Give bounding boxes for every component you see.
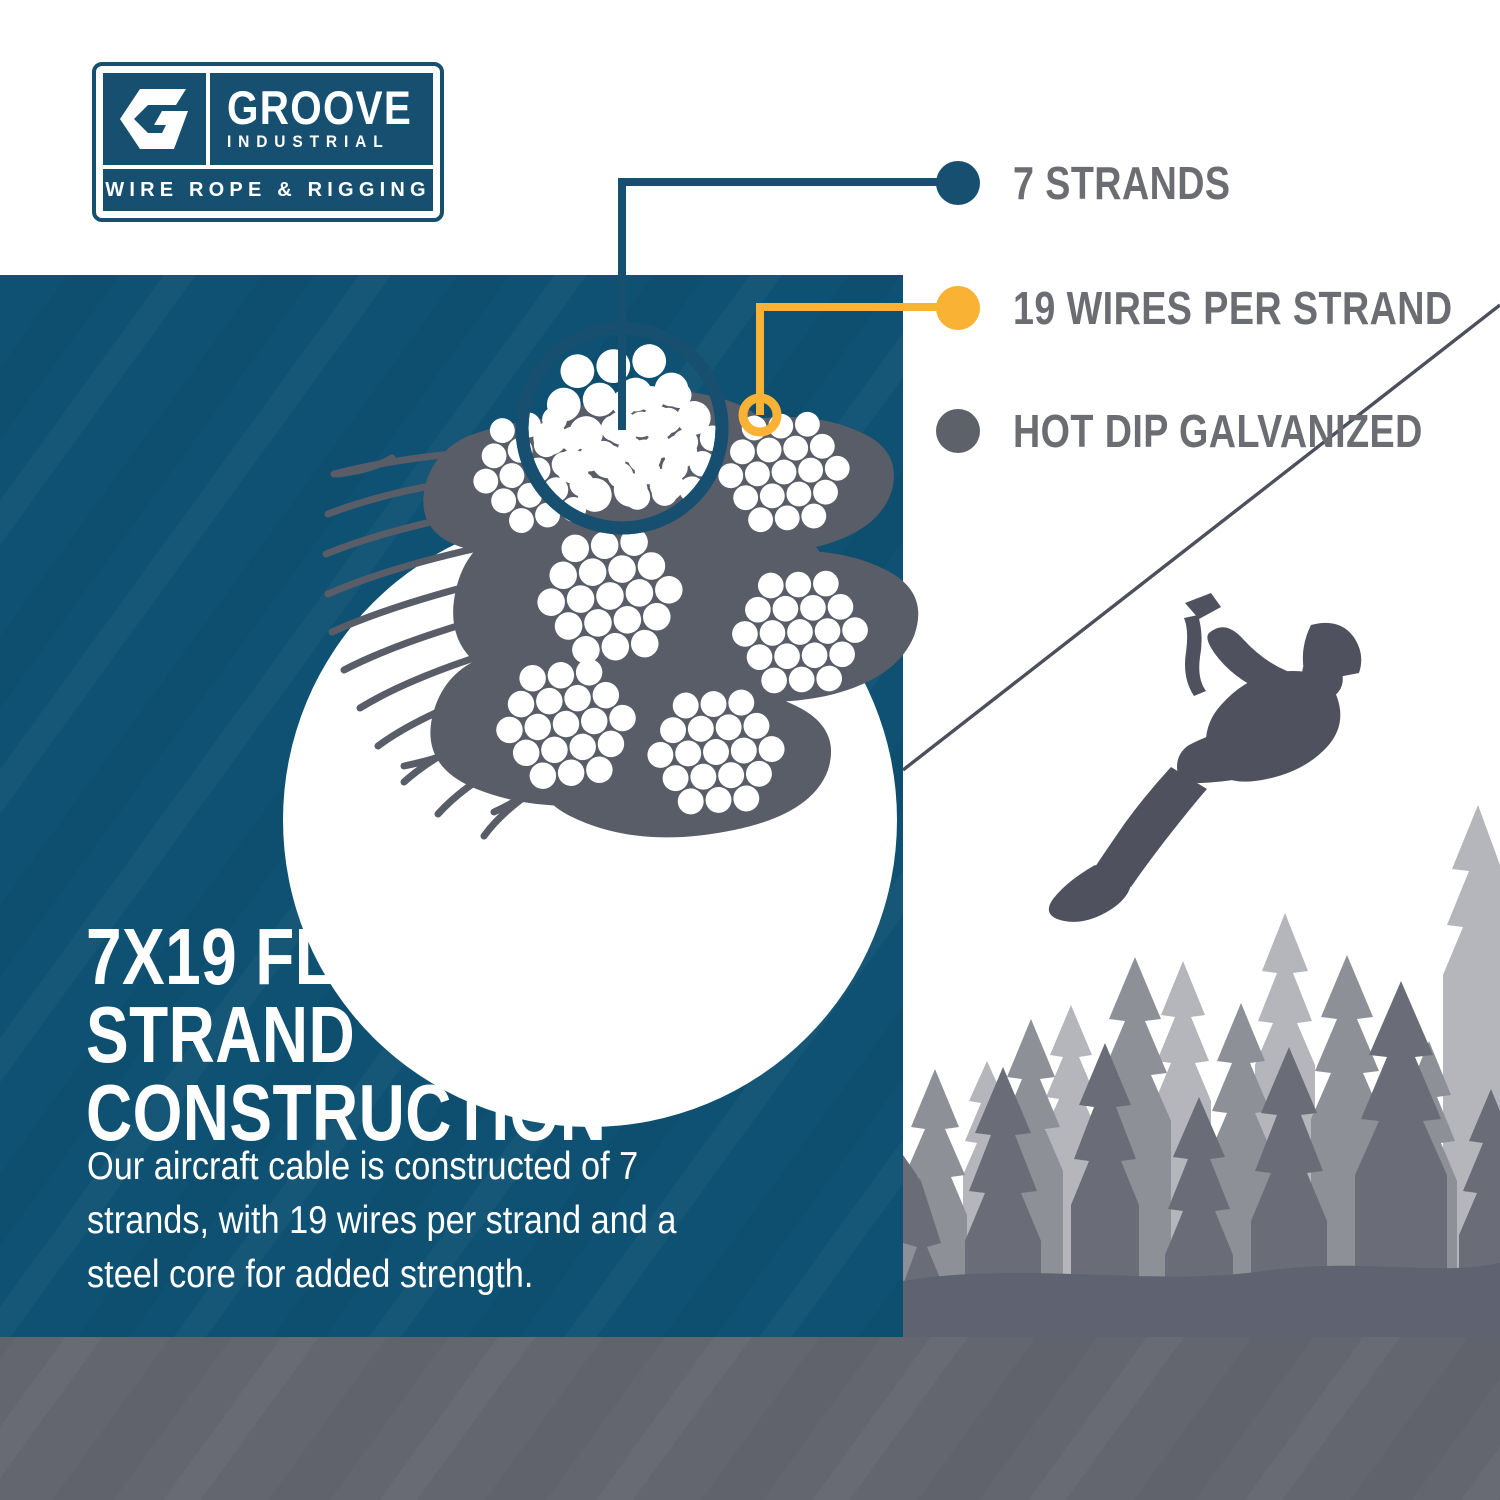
logo-subtitle: INDUSTRIAL [227, 133, 421, 152]
callout-label: 19 WIRES PER STRAND [1013, 281, 1453, 335]
headline-line-1: 7X19 FLEXIBLE [86, 912, 568, 1001]
callout-label: HOT DIP GALVANIZED [1013, 404, 1423, 458]
body-description: Our aircraft cable is constructed of 7 s… [87, 1140, 703, 1302]
callout-7-strands: 7 STRANDS [936, 156, 1278, 210]
groove-g-icon [103, 73, 206, 165]
g-hexagon-glyph [118, 85, 192, 153]
callout-label: 7 STRANDS [1013, 156, 1230, 210]
callout-hot-dip-galvanized: HOT DIP GALVANIZED [936, 404, 1500, 458]
logo-wordmark: GROOVE INDUSTRIAL [210, 73, 433, 165]
wire-rope-svg [280, 260, 920, 840]
callout-19-wires-per-strand: 19 WIRES PER STRAND [936, 281, 1500, 335]
page-title: 7X19 FLEXIBLE STRAND CONSTRUCTION [86, 918, 718, 1152]
logo-tagline-bar: WIRE ROPE & RIGGING [103, 169, 433, 211]
infographic-canvas: GROOVE INDUSTRIAL WIRE ROPE & RIGGING 7 … [0, 0, 1500, 1500]
headline-line-2: STRAND CONSTRUCTION [86, 996, 718, 1152]
bottom-gray-band [0, 1337, 1500, 1500]
callout-bullet-icon [936, 286, 980, 330]
band-stripe-texture [0, 1337, 1500, 1500]
brand-logo[interactable]: GROOVE INDUSTRIAL WIRE ROPE & RIGGING [92, 62, 444, 222]
logo-name: GROOVE [227, 86, 404, 129]
logo-inner: GROOVE INDUSTRIAL WIRE ROPE & RIGGING [103, 73, 433, 211]
callout-bullet-icon [936, 409, 980, 453]
wire-rope-illustration [280, 260, 920, 840]
logo-tagline: WIRE ROPE & RIGGING [105, 179, 430, 202]
callout-bullet-icon [936, 161, 980, 205]
